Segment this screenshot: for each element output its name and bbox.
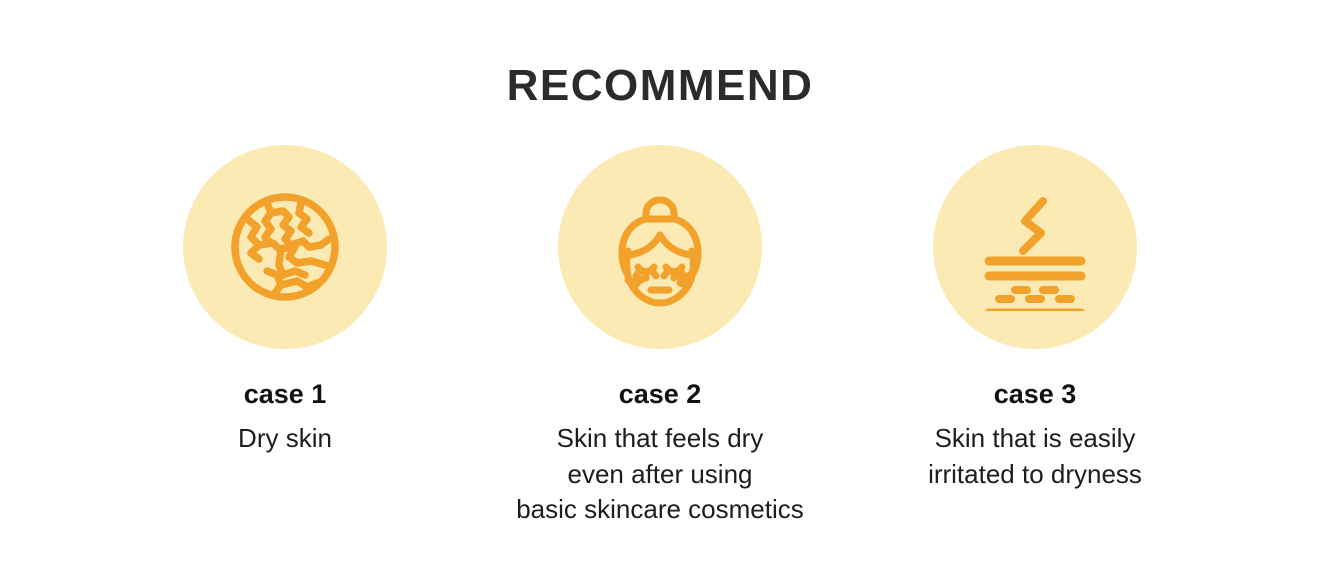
case-1-label: case 1 bbox=[244, 379, 327, 410]
recommend-infographic: RECOMMEND bbox=[0, 0, 1320, 571]
case-list: case 1 Dry skin bbox=[0, 145, 1320, 528]
case-1-icon-badge bbox=[183, 145, 387, 349]
case-item-3: case 3 Skin that is easily irritated to … bbox=[848, 145, 1223, 492]
case-2-label: case 2 bbox=[619, 379, 702, 410]
page-title: RECOMMEND bbox=[0, 64, 1320, 108]
case-item-1: case 1 Dry skin bbox=[98, 145, 473, 457]
case-3-label: case 3 bbox=[994, 379, 1077, 410]
case-2-icon-badge bbox=[558, 145, 762, 349]
case-2-description: Skin that feels dry even after using bas… bbox=[516, 421, 804, 528]
case-3-description: Skin that is easily irritated to dryness bbox=[928, 421, 1142, 492]
case-1-description: Dry skin bbox=[238, 421, 332, 457]
case-3-icon-badge bbox=[933, 145, 1137, 349]
dry-skin-face-icon bbox=[596, 183, 724, 311]
irritated-skin-layers-icon bbox=[971, 183, 1099, 311]
case-item-2: case 2 Skin that feels dry even after us… bbox=[473, 145, 848, 528]
cracked-earth-globe-icon bbox=[221, 183, 349, 311]
